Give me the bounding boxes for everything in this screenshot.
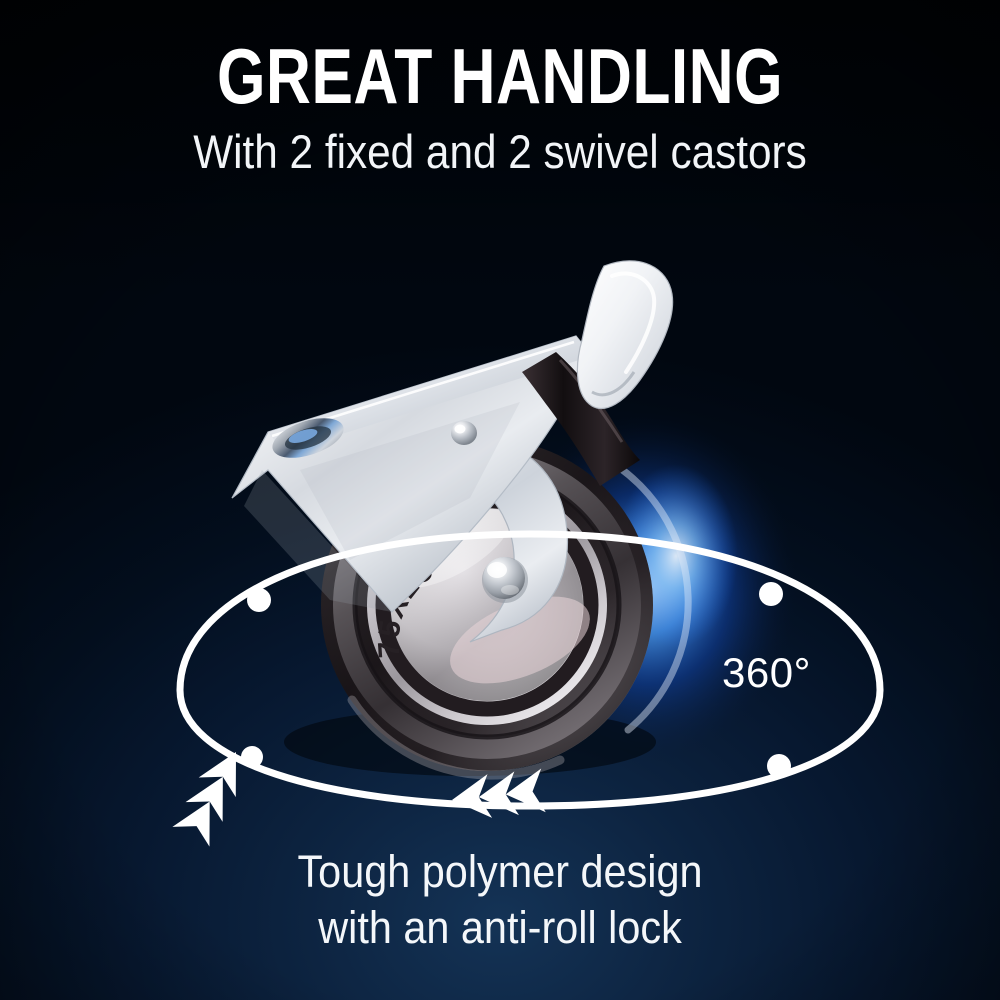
product-feature-panel: 75X25 [0, 0, 1000, 1000]
feature-caption: Tough polymer design with an anti-roll l… [40, 844, 960, 956]
feature-caption-line-1: Tough polymer design [40, 844, 960, 900]
page-subtitle: With 2 fixed and 2 swivel castors [50, 124, 950, 180]
feature-caption-line-2: with an anti-roll lock [40, 900, 960, 956]
rotation-degrees-label: 360° [722, 652, 811, 694]
page-title: GREAT HANDLING [100, 36, 900, 116]
